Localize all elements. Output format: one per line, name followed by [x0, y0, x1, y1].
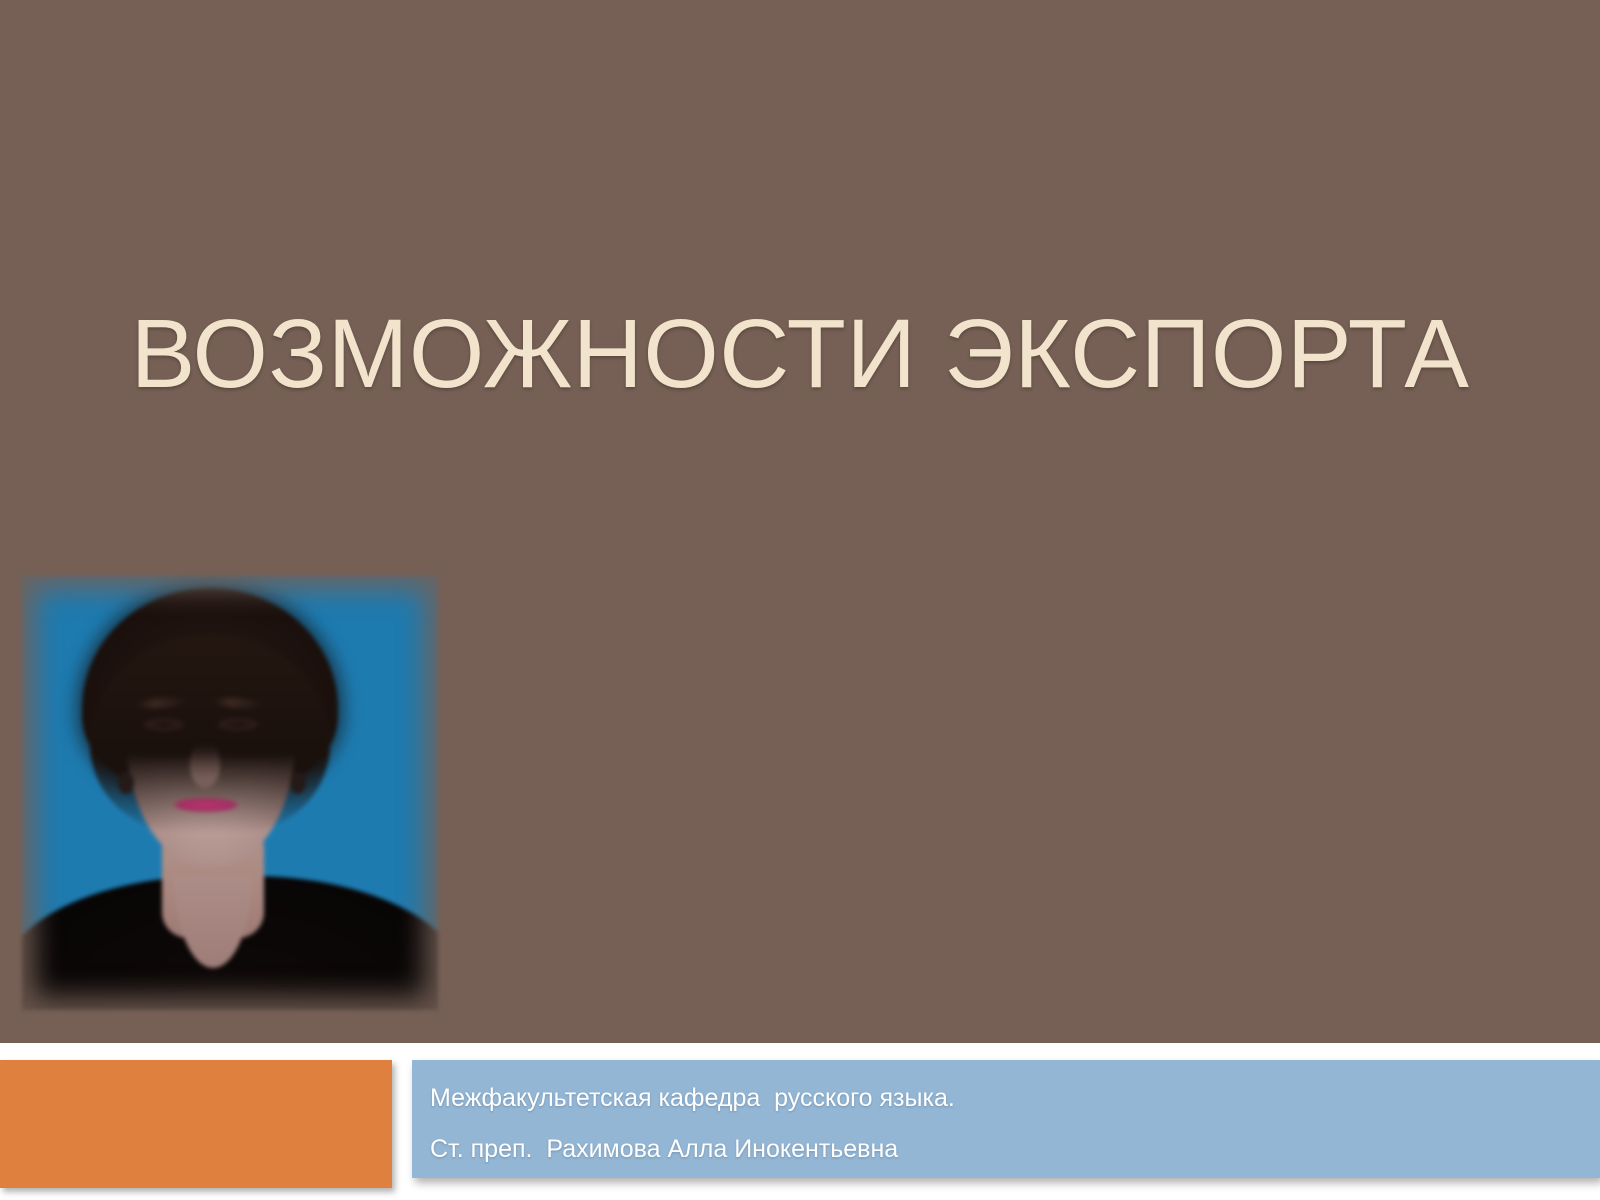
photo-canvas [22, 576, 438, 1010]
subtitle-presenter: Ст. преп. Рахимова Алла Инокентьевна [430, 1135, 898, 1164]
presenter-photo [22, 576, 438, 1010]
photo-earring-right [290, 772, 306, 794]
photo-mouth [174, 798, 238, 812]
subtitle-panel: Межфакультетская кафедра русского языка.… [412, 1060, 1600, 1178]
accent-bar [0, 1060, 392, 1188]
page-title: ВОЗМОЖНОСТИ ЭКСПОРТА [60, 300, 1540, 408]
photo-eye-right [218, 718, 258, 731]
presentation-slide: ВОЗМОЖНОСТИ ЭКСПОРТА Межфакультетская ка… [0, 0, 1600, 1200]
photo-nose [190, 744, 220, 788]
photo-eye-left [144, 718, 184, 731]
subtitle-department: Межфакультетская кафедра русского языка. [430, 1084, 955, 1113]
photo-earring-left [118, 772, 134, 794]
